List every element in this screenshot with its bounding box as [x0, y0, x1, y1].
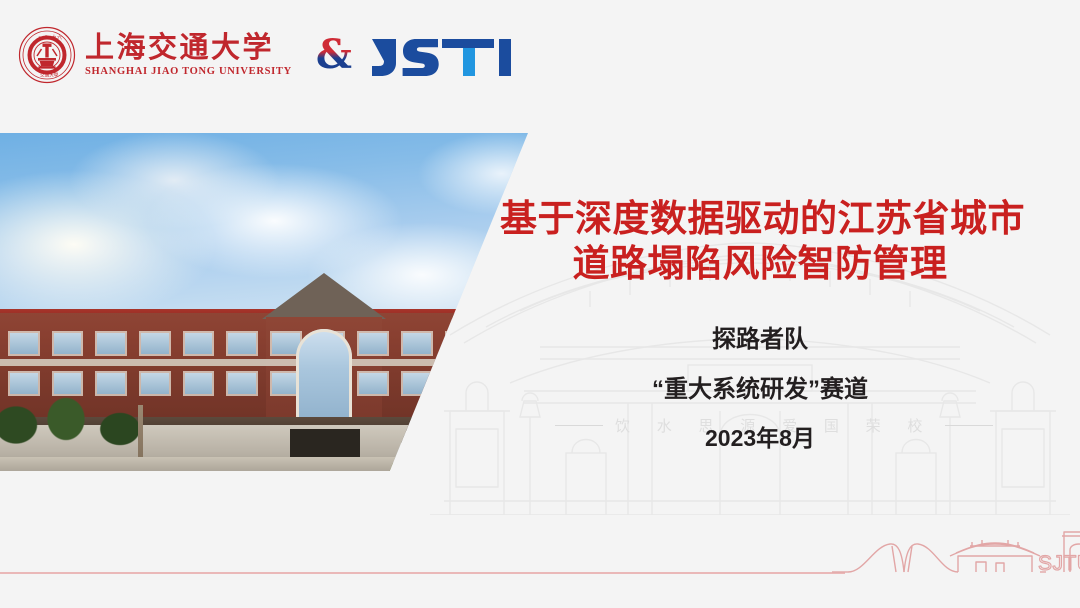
photo-arched-window: [296, 329, 352, 425]
photo-cornice-band: [0, 359, 528, 366]
title-line-1: 基于深度数据驱动的江苏省城市: [500, 196, 1020, 241]
campus-building-photo: [0, 133, 528, 471]
svg-text:交通大學: 交通大學: [40, 72, 59, 79]
ampersand-separator: &: [316, 35, 352, 75]
sjtu-seal-icon: 一八 九六 交通大學: [18, 26, 76, 84]
svg-text:一八: 一八: [39, 35, 49, 41]
track-name: “重大系统研发”赛道: [520, 378, 1000, 402]
presentation-date: 2023年8月: [520, 427, 1000, 450]
sjtu-skyline-icon: SJTU: [832, 524, 1080, 580]
photo-window-row-upper: [0, 333, 528, 354]
photo-window-row-lower: [0, 373, 528, 394]
logo-bar: 一八 九六 交通大學 上海交通大学 SHANGHAI JIAO TONG UNI…: [18, 20, 518, 90]
svg-text:SJTU: SJTU: [1038, 552, 1080, 575]
sjtu-logo: 一八 九六 交通大學 上海交通大学 SHANGHAI JIAO TONG UNI…: [18, 26, 292, 84]
photo-walkway: [0, 457, 528, 471]
footer-divider: [0, 572, 845, 574]
sjtu-wordmark: 上海交通大学 SHANGHAI JIAO TONG UNIVERSITY: [85, 33, 292, 78]
team-name: 探路者队: [520, 328, 1000, 352]
jsti-wordmark-icon: [368, 33, 518, 77]
subtitle-block: 探路者队 “重大系统研发”赛道 2023年8月: [520, 328, 1000, 450]
photo-gable-roof: [262, 273, 386, 319]
sjtu-english-name: SHANGHAI JIAO TONG UNIVERSITY: [85, 67, 292, 78]
svg-text:九六: 九六: [52, 34, 62, 41]
jsti-logo: [368, 33, 518, 77]
title-line-2: 道路塌陷风险智防管理: [500, 241, 1020, 286]
page-title: 基于深度数据驱动的江苏省城市 道路塌陷风险智防管理: [500, 196, 1020, 286]
presentation-slide: 一八 九六 交通大學 上海交通大学 SHANGHAI JIAO TONG UNI…: [0, 0, 1080, 608]
sjtu-chinese-name: 上海交通大学: [85, 33, 292, 62]
